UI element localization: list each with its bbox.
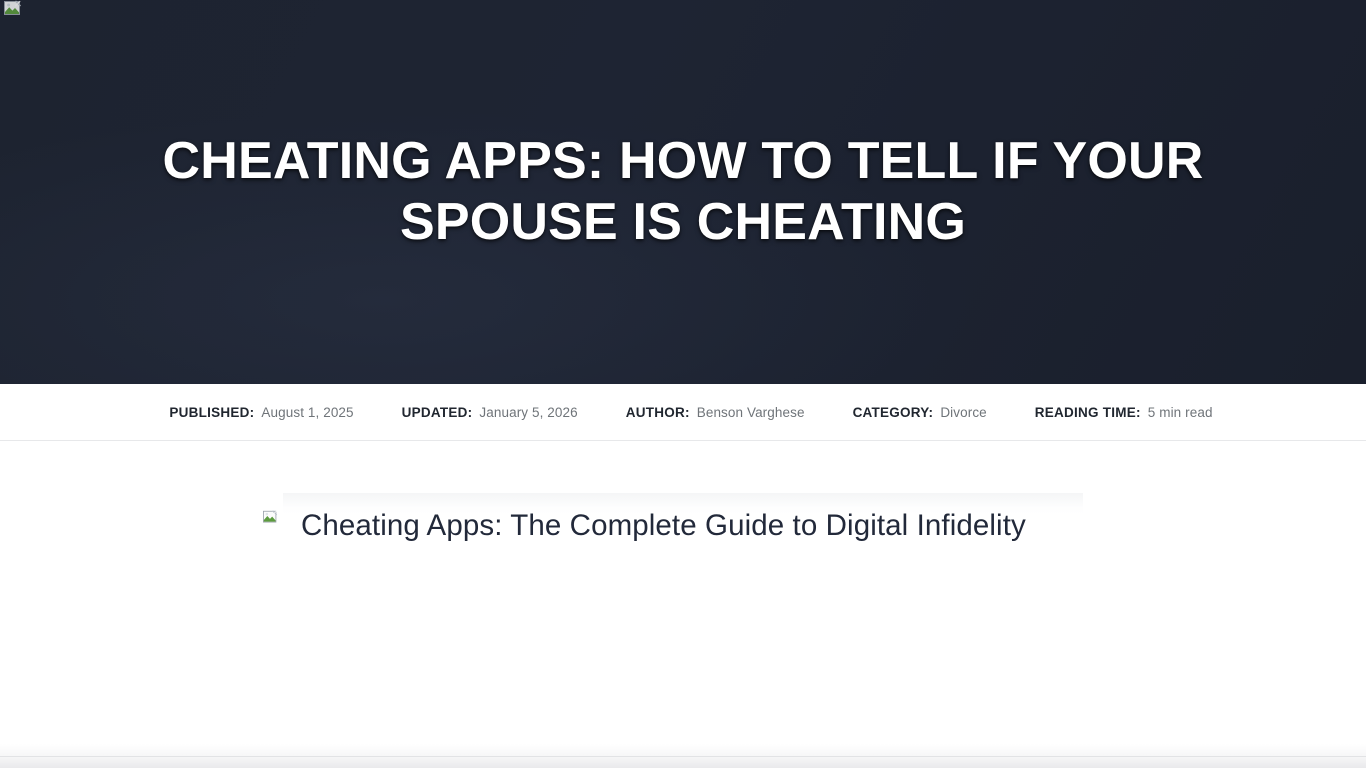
meta-value-published: August 1, 2025 — [261, 405, 353, 420]
article-meta-bar: PUBLISHED: August 1, 2025 UPDATED: Janua… — [0, 384, 1366, 441]
page-title: Cheating Apps: How to Tell if Your Spous… — [123, 131, 1243, 253]
meta-item-reading-time: READING TIME: 5 min read — [1035, 405, 1213, 420]
article-content-card: Cheating Apps: The Complete Guide to Dig… — [283, 496, 1083, 756]
meta-label-reading-time: READING TIME: — [1035, 405, 1141, 420]
meta-item-author: AUTHOR: Benson Varghese — [626, 405, 805, 420]
article-meta-list: PUBLISHED: August 1, 2025 UPDATED: Janua… — [0, 384, 1366, 440]
article-body: Cheating Apps: The Complete Guide to Dig… — [0, 441, 1366, 768]
meta-label-category: CATEGORY: — [853, 405, 934, 420]
meta-label-published: PUBLISHED: — [169, 405, 254, 420]
page-bottom-divider — [0, 756, 1366, 757]
meta-item-published: PUBLISHED: August 1, 2025 — [169, 405, 353, 420]
meta-value-updated: January 5, 2026 — [479, 405, 577, 420]
hero-banner: Cheating Apps: How to Tell if Your Spous… — [0, 0, 1366, 384]
meta-value-reading-time: 5 min read — [1148, 405, 1213, 420]
broken-image-icon — [283, 496, 298, 511]
hero-content: Cheating Apps: How to Tell if Your Spous… — [0, 0, 1366, 384]
meta-item-updated: UPDATED: January 5, 2026 — [402, 405, 578, 420]
meta-value-category[interactable]: Divorce — [940, 405, 986, 420]
featured-image-placeholder: Cheating Apps: The Complete Guide to Dig… — [283, 496, 1063, 547]
meta-label-author: AUTHOR: — [626, 405, 690, 420]
meta-item-category: CATEGORY: Divorce — [853, 405, 987, 420]
featured-image-alt-text: Cheating Apps: The Complete Guide to Dig… — [301, 509, 1026, 542]
meta-value-author[interactable]: Benson Varghese — [697, 405, 805, 420]
article-page: Cheating Apps: How to Tell if Your Spous… — [0, 0, 1366, 768]
meta-label-updated: UPDATED: — [402, 405, 473, 420]
